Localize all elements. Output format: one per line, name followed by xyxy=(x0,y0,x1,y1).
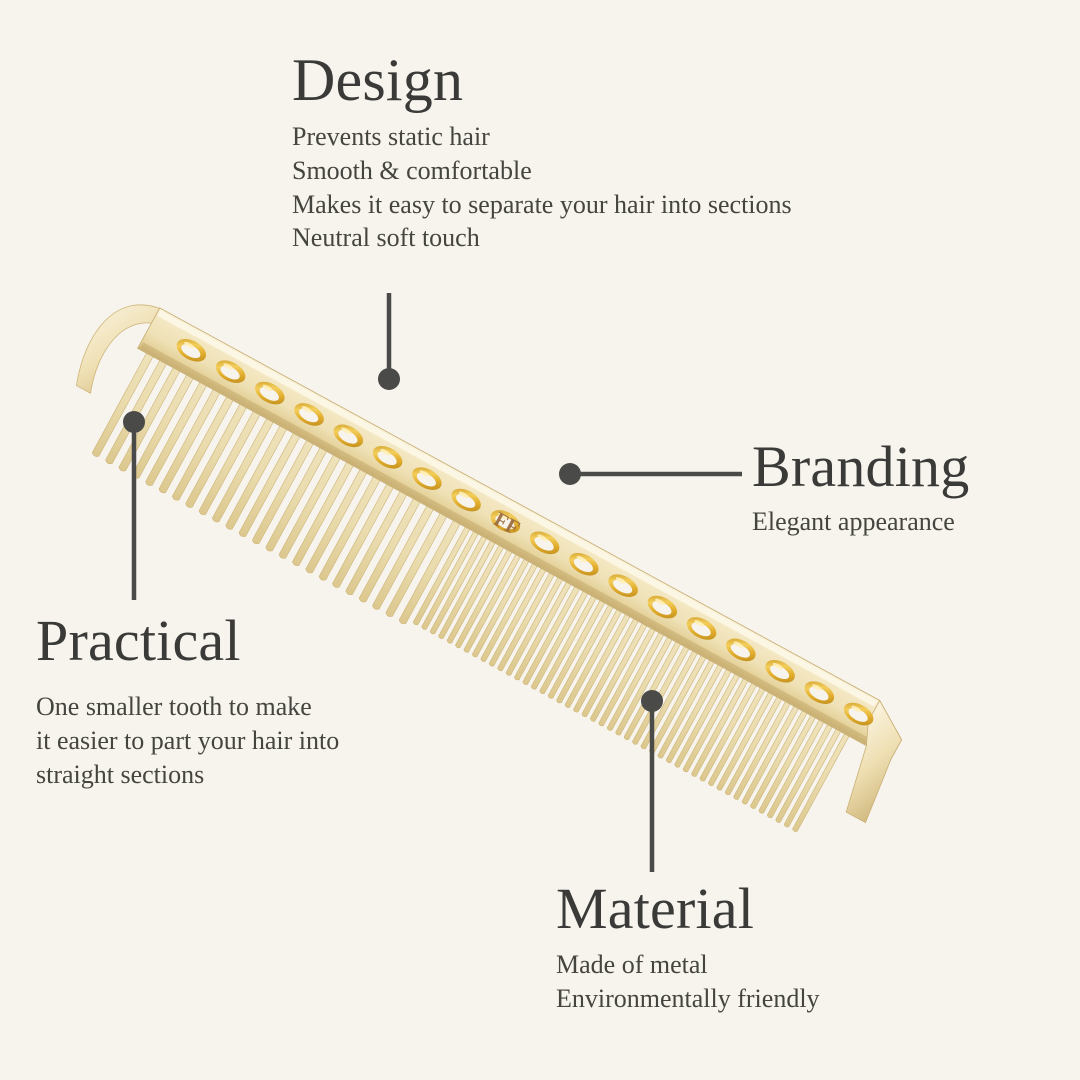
callout-branding-body: Elegant appearance xyxy=(752,505,969,539)
callout-practical-line-1: One smaller tooth to make xyxy=(36,690,339,724)
callout-design-heading: Design xyxy=(292,50,792,110)
callout-design-line-2: Smooth & comfortable xyxy=(292,154,792,188)
callout-practical: Practical One smaller tooth to make it e… xyxy=(36,612,339,791)
callout-material-line-2: Environmentally friendly xyxy=(556,982,820,1016)
callout-material-heading: Material xyxy=(556,880,820,938)
callout-design-line-1: Prevents static hair xyxy=(292,120,792,154)
callout-material: Material Made of metal Environmentally f… xyxy=(556,880,820,1016)
callout-design-body: Prevents static hair Smooth & comfortabl… xyxy=(292,120,792,255)
callout-practical-line-3: straight sections xyxy=(36,758,339,792)
callout-material-line-1: Made of metal xyxy=(556,948,820,982)
callout-design-line-3: Makes it easy to separate your hair into… xyxy=(292,188,792,222)
callout-branding-line-1: Elegant appearance xyxy=(752,505,969,539)
infographic-canvas: FF Design Prevents static hair Smooth & … xyxy=(0,0,1080,1080)
callout-branding: Branding Elegant appearance xyxy=(752,438,969,539)
callout-practical-body: One smaller tooth to make it easier to p… xyxy=(36,690,339,791)
callout-practical-heading: Practical xyxy=(36,612,339,670)
leader-dot-practical xyxy=(123,411,145,433)
callout-design-line-4: Neutral soft touch xyxy=(292,221,792,255)
callout-practical-line-2: it easier to part your hair into xyxy=(36,724,339,758)
callout-design: Design Prevents static hair Smooth & com… xyxy=(292,50,792,255)
leader-dot-material xyxy=(641,690,663,712)
leader-dot-design xyxy=(378,368,400,390)
callout-material-body: Made of metal Environmentally friendly xyxy=(556,948,820,1016)
callout-branding-heading: Branding xyxy=(752,438,969,496)
leader-dot-branding xyxy=(559,463,581,485)
